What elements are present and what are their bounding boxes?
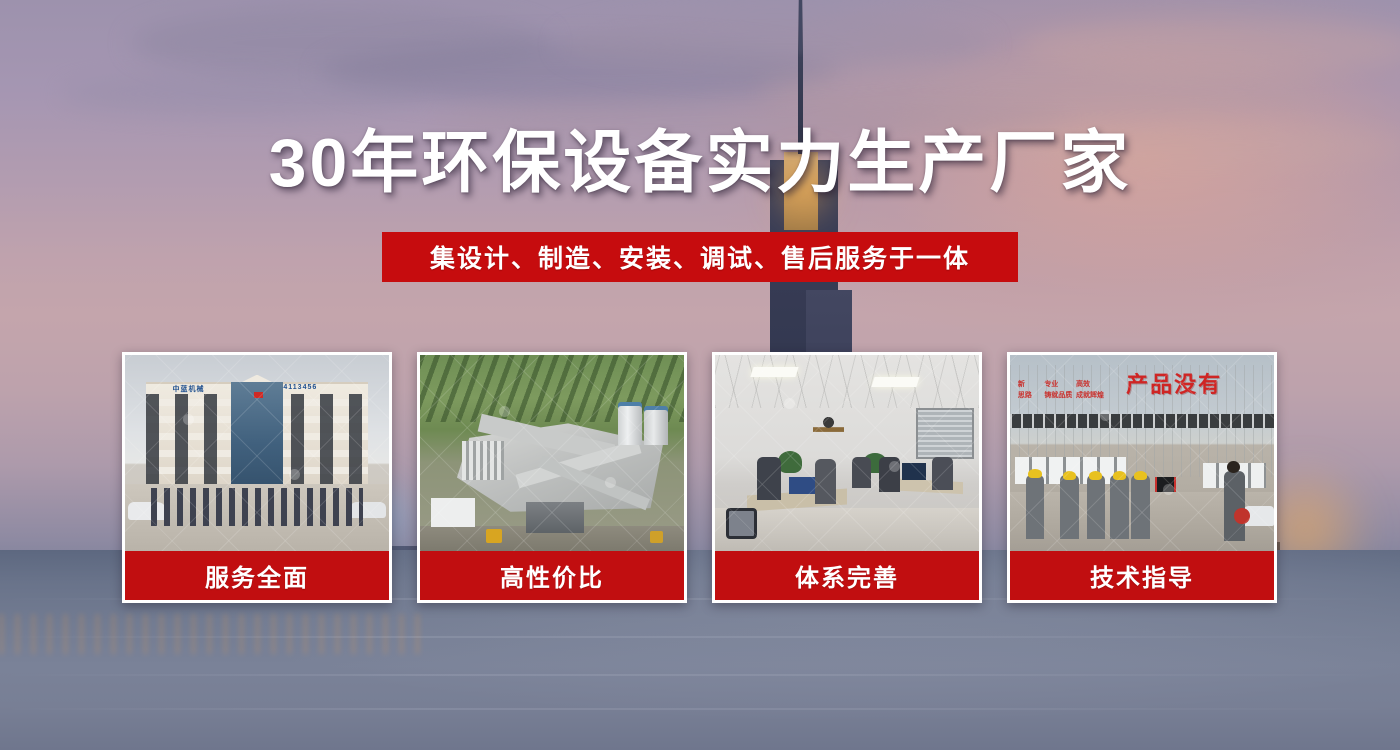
feature-card[interactable]: 中蓝机械 4113456 服务全面 [122,352,392,603]
card-photo-aerial-view-industrial-plant [420,355,684,551]
page-title: 30年环保设备实力生产厂家 [0,128,1400,199]
subtitle-banner: 集设计、制造、安装、调试、售后服务于一体 [382,232,1018,282]
promo-banner: 30年环保设备实力生产厂家 集设计、制造、安装、调试、售后服务于一体 中蓝机械 … [0,0,1400,750]
card-caption-text: 服务全面 [205,558,309,593]
card-caption-text: 技术指导 [1090,558,1194,593]
card-photo-office-interior-staff-working [715,355,979,551]
flag-icon [254,392,263,398]
factory-headline-text: 产品没有 [1126,367,1222,399]
card-photo-company-headquarters-with-staff: 中蓝机械 4113456 [125,355,389,551]
card-caption: 技术指导 [1010,551,1274,600]
factory-slogan-3: 高效成就辉煌 [1076,380,1104,401]
factory-slogan-1: 新思路 [1018,380,1032,401]
subtitle-text: 集设计、制造、安装、调试、售后服务于一体 [430,239,970,275]
card-caption: 服务全面 [125,551,389,600]
card-caption: 高性价比 [420,551,684,600]
building-sign-text: 中蓝机械 [173,384,205,394]
water-reflection [0,614,420,654]
card-caption-text: 体系完善 [795,558,899,593]
feature-card[interactable]: 新思路 专业铸就品质 高效成就辉煌 产品没有 [1007,352,1277,603]
feature-card-list: 中蓝机械 4113456 服务全面 [122,352,1277,603]
factory-slogan-2: 专业铸就品质 [1044,380,1072,401]
card-photo-workers-in-hardhats-at-factory: 新思路 专业铸就品质 高效成就辉煌 产品没有 [1010,355,1274,551]
card-caption: 体系完善 [715,551,979,600]
red-helmet [1234,508,1250,524]
window-blinds [916,408,974,459]
feature-card[interactable]: 高性价比 [417,352,687,603]
wall-logo [813,410,845,441]
feature-card[interactable]: 体系完善 [712,352,982,603]
building-phone-text: 4113456 [283,384,317,391]
card-caption-text: 高性价比 [500,558,604,593]
